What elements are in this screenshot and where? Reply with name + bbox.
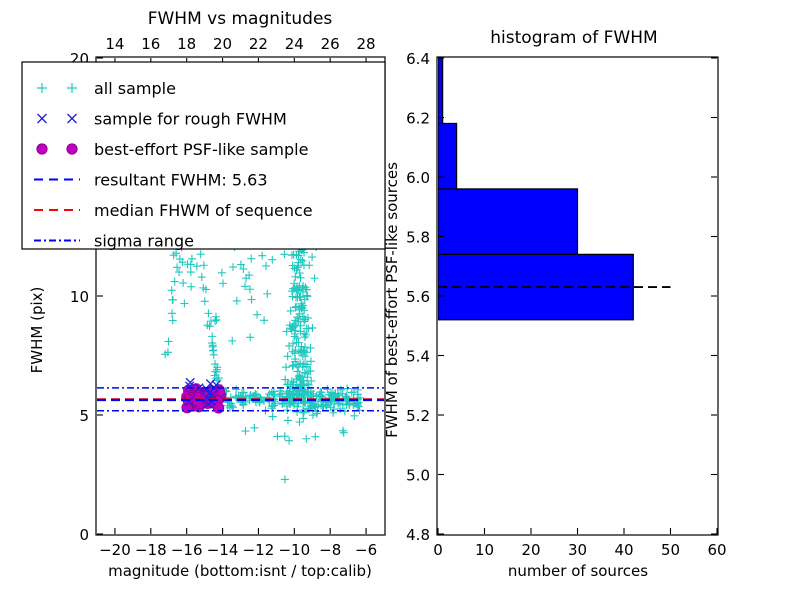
right-xtick-label: 0 [433,541,443,559]
legend-item-label: all sample [94,79,176,98]
right-ytick-label: 5.8 [406,229,430,247]
right-panel: histogram of FWHM 0102030405060 4.85.05.… [383,28,727,580]
left-xtick-top-label: 14 [105,35,124,53]
left-ytick-label: 5 [79,407,89,425]
histogram-bars [438,58,633,320]
right-ytick-label: 5.2 [406,407,430,425]
left-xtick-top-label: 26 [321,35,340,53]
left-xaxis-bottom-ticks: −20−18−16−14−12−10−8−6 [99,528,377,559]
right-ytick-label: 4.8 [406,526,430,544]
legend-item-label: sigma range [94,232,194,251]
left-yaxis-label: FWHM (pix) [28,287,46,374]
histogram-bar [438,58,443,123]
left-xtick-bottom-label: −6 [355,541,377,559]
left-xtick-top-label: 28 [357,35,376,53]
right-yaxis-label: FWHM of best-effort PSF-like sources [383,162,401,438]
right-data-area [438,58,671,320]
left-xtick-top-label: 20 [213,35,232,53]
left-xtick-bottom-label: −12 [243,541,275,559]
right-xtick-label: 60 [707,541,726,559]
right-ytick-label: 5.6 [406,288,430,306]
left-xtick-top-label: 18 [177,35,196,53]
left-xtick-bottom-label: −8 [319,541,341,559]
right-ytick-label: 5.0 [406,467,430,485]
left-xtick-bottom-label: −14 [207,541,239,559]
left-xtick-top-label: 22 [249,35,268,53]
right-xtick-label: 20 [521,541,540,559]
right-ytick-label: 6.2 [406,110,430,128]
right-ytick-label: 6.4 [406,50,430,68]
right-xaxis-ticks: 0102030405060 [433,528,726,559]
left-xtick-bottom-label: −16 [171,541,203,559]
legend-item-label: median FHWM of sequence [94,201,313,220]
left-xtick-top-label: 16 [141,35,160,53]
legend-item-label: resultant FWHM: 5.63 [94,171,268,190]
left-xtick-top-label: 24 [285,35,304,53]
right-ytick-label: 6.0 [406,169,430,187]
left-panel-title: FWHM vs magnitudes [148,9,333,29]
figure-canvas: FWHM vs magnitudes [0,0,800,600]
left-ytick-label: 10 [70,288,89,306]
right-xtick-label: 10 [475,541,494,559]
left-ytick-label: 0 [79,526,89,544]
legend-item-label: best-effort PSF-like sample [94,140,308,159]
right-xtick-label: 50 [661,541,680,559]
left-xtick-bottom-label: −10 [278,541,310,559]
right-xtick-label: 30 [568,541,587,559]
right-xtick-label: 40 [614,541,633,559]
left-xtick-bottom-label: −20 [99,541,131,559]
left-xaxis-top-ticks: 1416182022242628 [105,35,375,64]
left-xtick-bottom-label: −18 [135,541,167,559]
right-ytick-label: 5.4 [406,348,430,366]
left-xaxis-label: magnitude (bottom:isnt / top:calib) [108,562,372,580]
matplotlib-figure: FWHM vs magnitudes [0,0,800,600]
histogram-bar [438,123,457,188]
histogram-bar [438,189,578,254]
right-panel-title: histogram of FWHM [490,28,657,48]
right-xaxis-label: number of sources [508,562,648,580]
legend-item-label: sample for rough FWHM [94,110,287,129]
legend[interactable]: all samplesample for rough FWHMbest-effo… [22,62,385,251]
